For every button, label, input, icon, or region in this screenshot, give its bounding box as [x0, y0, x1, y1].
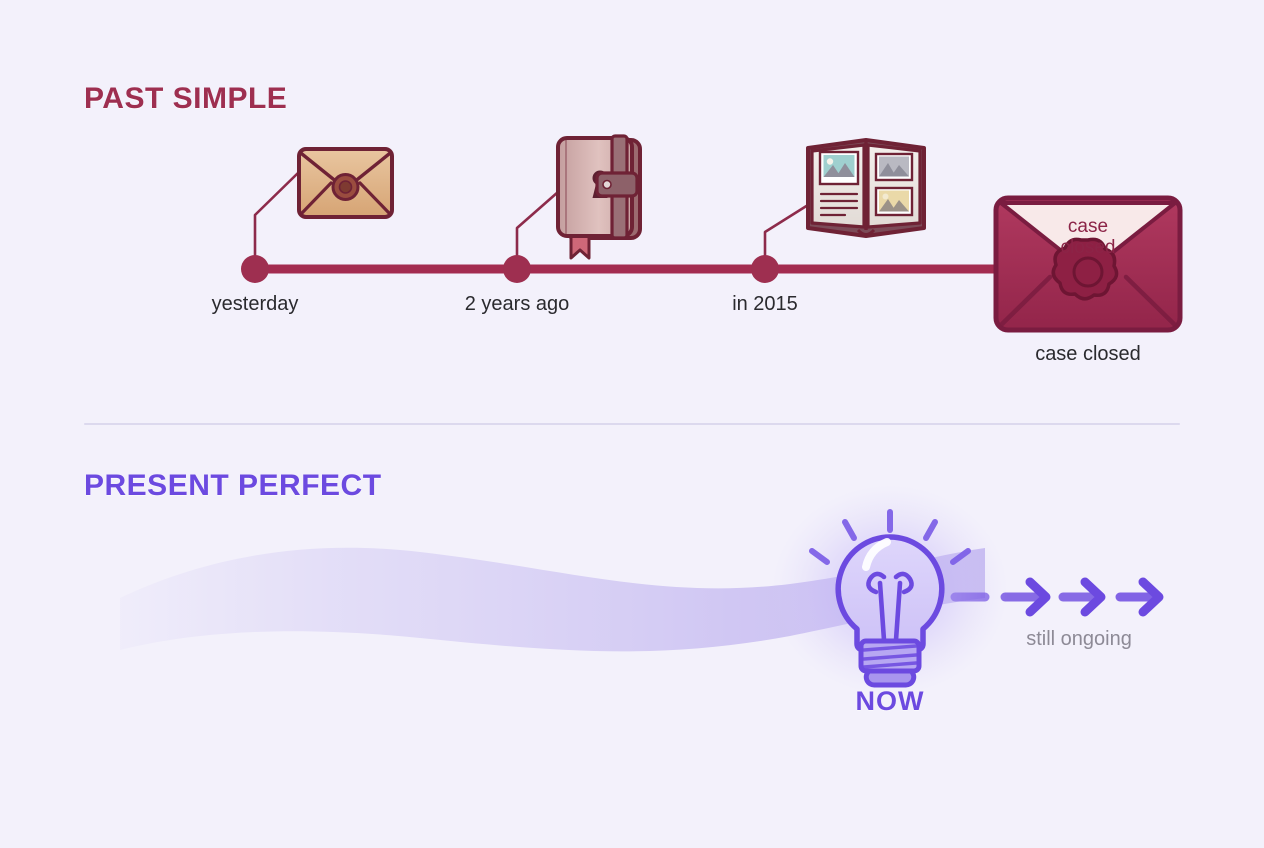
dashed-arrows-icon — [955, 582, 1180, 612]
photo-album-icon — [808, 140, 924, 236]
locked-diary-icon — [558, 136, 640, 258]
past-simple-title: PAST SIMPLE — [84, 82, 287, 116]
timeline-label-in-2015: in 2015 — [732, 293, 798, 316]
infographic-canvas: PAST SIMPLE — [0, 0, 1264, 848]
wave-band-icon — [120, 548, 985, 652]
timeline-label-case-closed: case closed — [1035, 343, 1141, 366]
timeline-nodes — [241, 255, 779, 283]
lightbulb-glow — [772, 485, 1008, 695]
now-label: NOW — [856, 686, 925, 717]
still-ongoing-label: still ongoing — [1026, 628, 1132, 651]
present-perfect-title: PRESENT PERFECT — [84, 469, 382, 503]
sealed-envelope-icon — [299, 149, 392, 217]
envelope-inner-text-line1: case — [1068, 216, 1108, 237]
envelope-inner-text-line2: closed — [1061, 237, 1116, 258]
case-closed-envelope-icon — [996, 198, 1180, 330]
timeline-label-2-years-ago: 2 years ago — [465, 293, 570, 316]
timeline-label-yesterday: yesterday — [212, 293, 299, 316]
section-divider — [84, 423, 1180, 425]
lightbulb-icon — [812, 512, 968, 685]
timeline-connectors — [255, 172, 808, 269]
